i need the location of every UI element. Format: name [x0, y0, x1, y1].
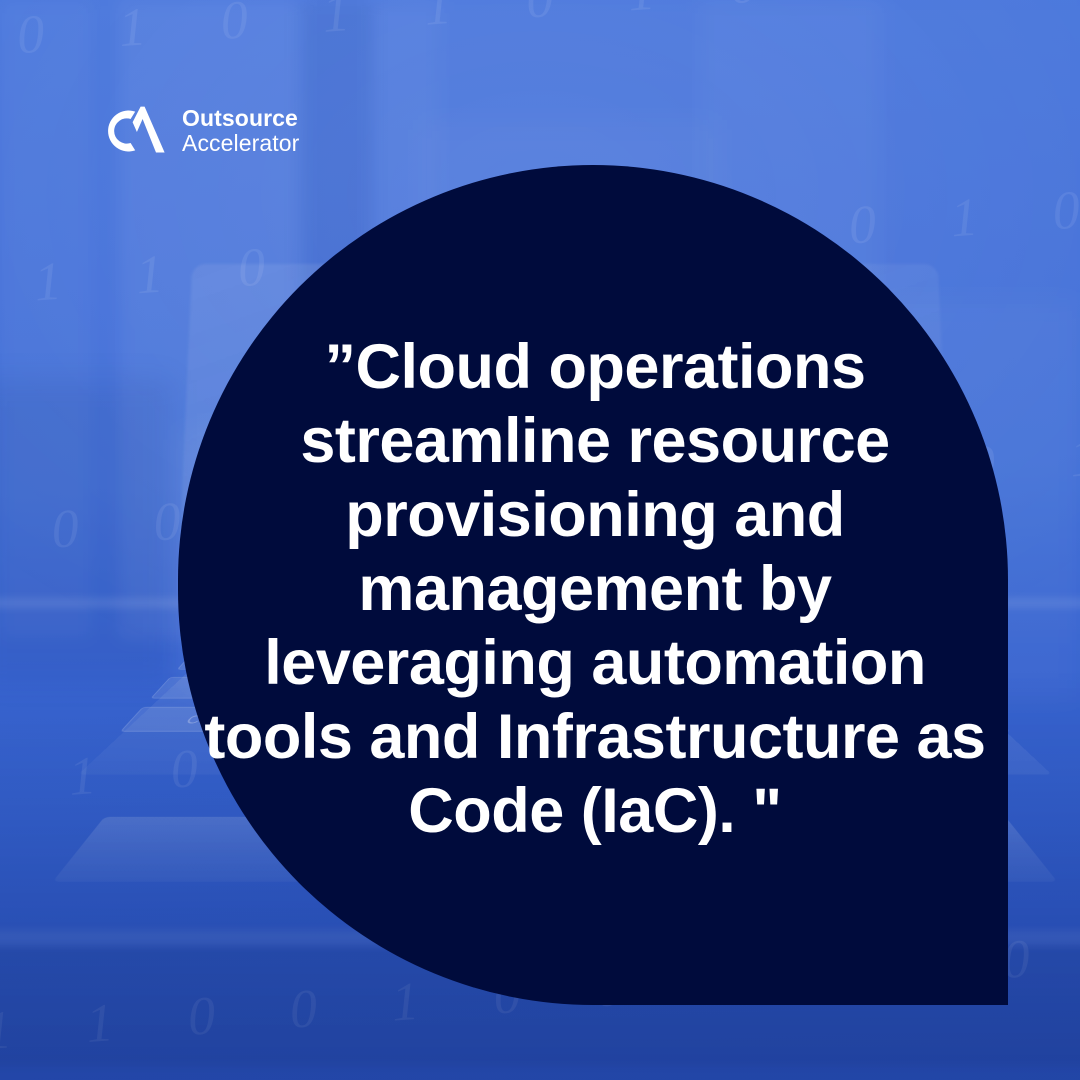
- binary-row: 1 0 1 0 1 1 0 1 0 0 1 0 1 1 0 1 0 1 0 0 …: [0, 0, 1080, 84]
- quote-line: streamline resource: [185, 404, 1005, 478]
- brand-name-line-2: Accelerator: [182, 131, 299, 156]
- brand-name-line-1: Outsource: [182, 106, 299, 131]
- brand-logo[interactable]: Outsource Accelerator: [106, 106, 299, 156]
- quote-text-block: ”Cloud operations streamline resource pr…: [185, 330, 1005, 848]
- brand-wordmark: Outsource Accelerator: [182, 106, 299, 156]
- quote-line: Code (IaC). ": [185, 774, 1005, 848]
- quote-line: leveraging automation: [185, 626, 1005, 700]
- quote-line: ”Cloud operations: [185, 330, 1005, 404]
- quote-line: tools and Infrastructure as: [185, 700, 1005, 774]
- quote-graphic-canvas: Esc F1 F2 F3 F4 F5 F6 Tab Q W E R T Y: [0, 0, 1080, 1080]
- outsource-accelerator-logo-mark-icon: [106, 106, 168, 156]
- quote-line: management by: [185, 552, 1005, 626]
- quote-line: provisioning and: [185, 478, 1005, 552]
